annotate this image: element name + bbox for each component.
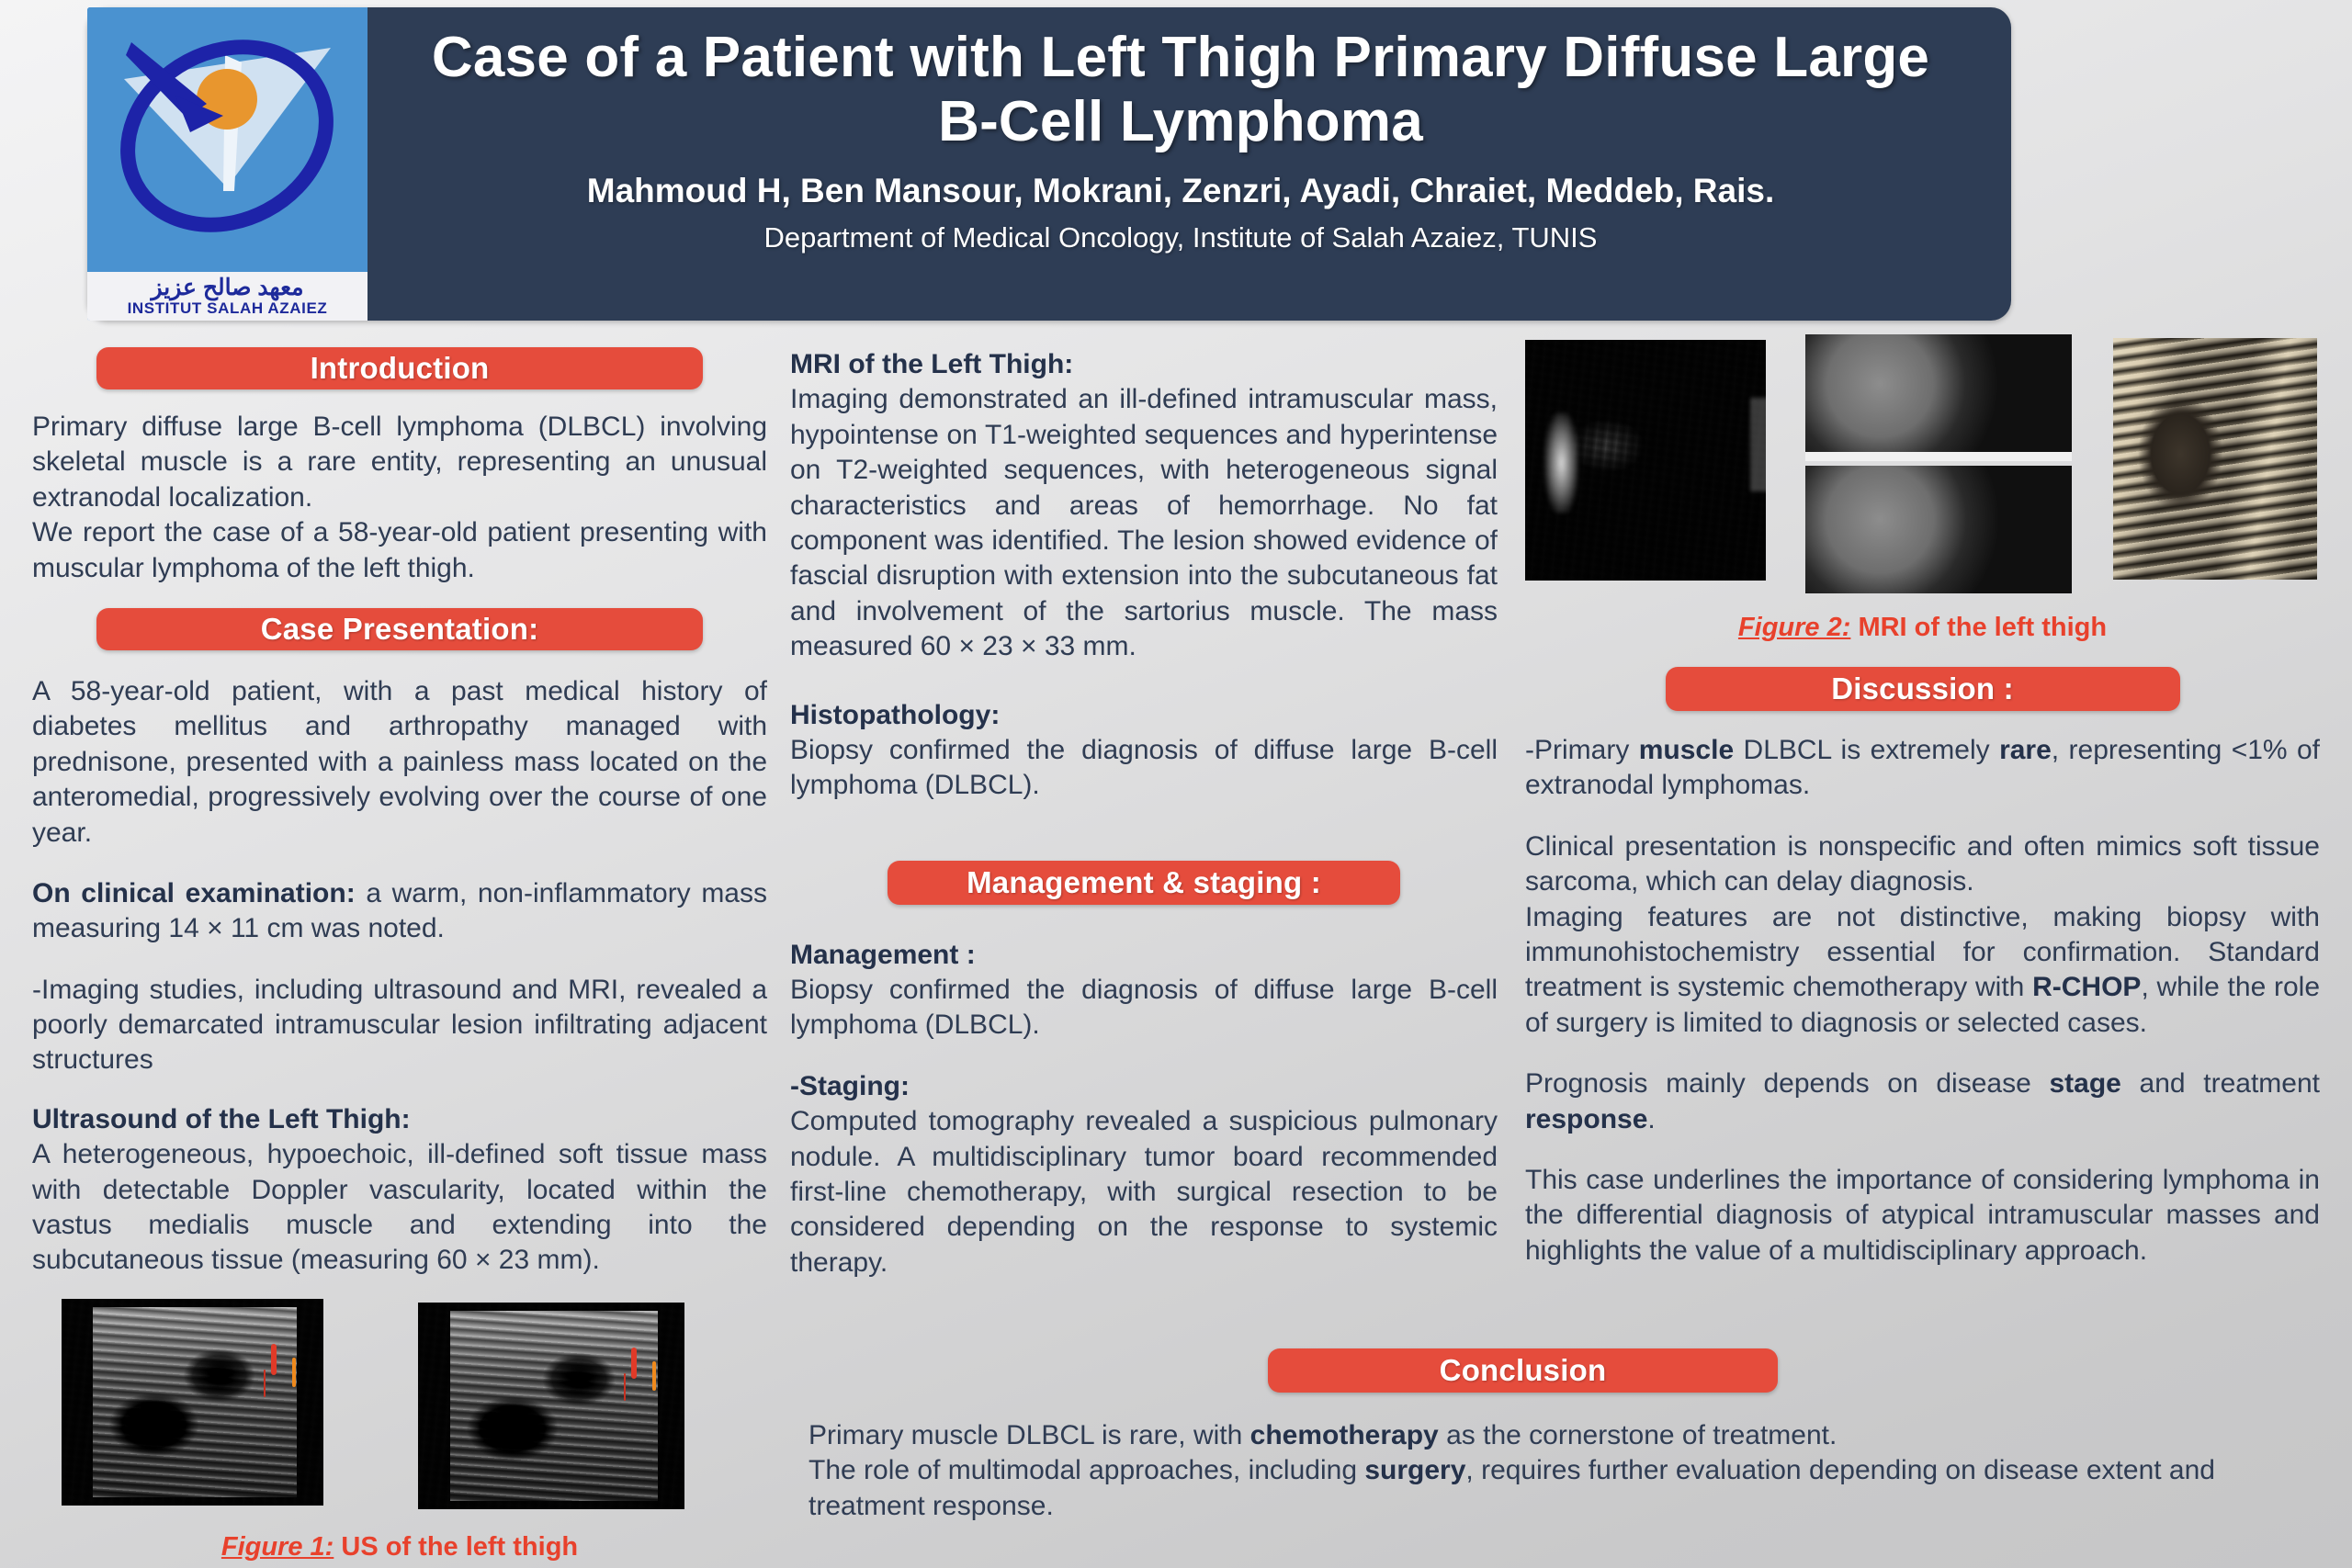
section-pill-management-staging-label: Management & staging :	[967, 865, 1321, 900]
conclusion-l1-a: Primary muscle DLBCL is rare, with	[808, 1420, 1250, 1450]
column-middle: MRI of the Left Thigh: Imaging demonstra…	[790, 347, 1498, 1280]
column-left: Introduction Primary diffuse large B-cel…	[32, 347, 767, 1562]
discussion-paragraph-5: This case underlines the importance of c…	[1525, 1163, 2320, 1269]
discussion-p4-c: and treatment	[2121, 1068, 2320, 1099]
mri-axial-pair	[1805, 334, 2072, 593]
author-list: Mahmoud H, Ben Mansour, Mokrani, Zenzri,…	[367, 171, 1994, 211]
clinical-examination-label: On clinical examination:	[32, 878, 356, 908]
discussion-p1-a: -Primary	[1525, 735, 1639, 765]
section-pill-discussion-label: Discussion :	[1831, 671, 2014, 706]
mri-axial-t1-bottom-image	[1805, 466, 2072, 593]
ultrasound-scan-2-image	[418, 1303, 684, 1509]
conclusion-l1-c: as the cornerstone of treatment.	[1439, 1420, 1837, 1450]
discussion-p4-a: Prognosis mainly depends on disease	[1525, 1068, 2049, 1099]
mri-coronal-stir-image	[1525, 340, 1766, 581]
logo-mark-icon	[87, 7, 367, 272]
discussion-p3-rchop: R-CHOP	[2032, 972, 2141, 1002]
salah-azaiez-logo-icon	[87, 7, 367, 272]
section-pill-case-presentation-label: Case Presentation:	[261, 612, 539, 647]
section-pill-discussion[interactable]: Discussion :	[1666, 667, 2180, 711]
mri-axial-t1-top-image	[1805, 334, 2072, 452]
figure2-image-row	[1525, 340, 2320, 592]
section-pill-introduction[interactable]: Introduction	[96, 347, 703, 389]
section-pill-case-presentation[interactable]: Case Presentation:	[96, 608, 703, 650]
discussion-p1-muscle: muscle	[1639, 735, 1734, 765]
discussion-paragraph-2: Clinical presentation is nonspecific and…	[1525, 829, 2320, 900]
column-right: Figure 2: MRI of the left thigh Discussi…	[1525, 340, 2320, 1269]
conclusion-section: Conclusion Primary muscle DLBCL is rare,…	[808, 1348, 2334, 1524]
figure2-caption: Figure 2: MRI of the left thigh	[1525, 613, 2320, 643]
staging-paragraph: Computed tomography revealed a suspiciou…	[790, 1104, 1498, 1280]
discussion-p4-stage: stage	[2049, 1068, 2120, 1099]
clinical-examination-paragraph: On clinical examination: a warm, non-inf…	[32, 876, 767, 947]
section-pill-conclusion-label: Conclusion	[1440, 1353, 1607, 1388]
conclusion-l2-surgery: surgery	[1364, 1455, 1465, 1485]
staging-heading: -Staging:	[790, 1069, 1498, 1104]
figure2-caption-text: MRI of the left thigh	[1850, 613, 2107, 642]
imaging-studies-paragraph: -Imaging studies, including ultrasound a…	[32, 973, 767, 1078]
introduction-paragraph-1: Primary diffuse large B-cell lymphoma (D…	[32, 410, 767, 515]
discussion-p1-rare: rare	[1999, 735, 2052, 765]
conclusion-line-2: The role of multimodal approaches, inclu…	[808, 1453, 2288, 1524]
section-pill-introduction-label: Introduction	[311, 351, 490, 386]
section-pill-management-staging[interactable]: Management & staging :	[888, 861, 1400, 905]
affiliation: Department of Medical Oncology, Institut…	[367, 220, 1994, 254]
mri-paragraph: Imaging demonstrated an ill-defined intr…	[790, 382, 1498, 664]
institution-logo: معهد صالح عزيز INSTITUT SALAH AZAIEZ	[87, 7, 367, 321]
logo-caption: معهد صالح عزيز INSTITUT SALAH AZAIEZ	[87, 272, 367, 321]
figure1-caption: Figure 1: US of the left thigh	[32, 1532, 767, 1562]
management-paragraph: Biopsy confirmed the diagnosis of diffus…	[790, 973, 1498, 1043]
histopathology-paragraph: Biopsy confirmed the diagnosis of diffus…	[790, 733, 1498, 804]
page-title: Case of a Patient with Left Thigh Primar…	[367, 26, 1994, 154]
discussion-paragraph-4: Prognosis mainly depends on disease stag…	[1525, 1066, 2320, 1137]
discussion-paragraph-3: Imaging features are not distinctive, ma…	[1525, 900, 2320, 1042]
logo-arabic-text: معهد صالح عزيز	[151, 276, 303, 299]
discussion-p4-response: response	[1525, 1104, 1647, 1134]
case-presentation-paragraph: A 58-year-old patient, with a past medic…	[32, 674, 767, 851]
ultrasound-scan-1-image	[62, 1299, 323, 1506]
section-pill-conclusion[interactable]: Conclusion	[1268, 1348, 1778, 1393]
header-text-block: Case of a Patient with Left Thigh Primar…	[367, 26, 1994, 255]
introduction-paragraph-2: We report the case of a 58-year-old pati…	[32, 515, 767, 586]
discussion-p4-e: .	[1647, 1104, 1655, 1134]
conclusion-l2-a: The role of multimodal approaches, inclu…	[808, 1455, 1364, 1485]
mri-sagittal-t1-image	[2113, 338, 2317, 580]
conclusion-line-1: Primary muscle DLBCL is rare, with chemo…	[808, 1418, 2288, 1453]
figure1-label: Figure 1:	[221, 1532, 334, 1562]
figure2-label: Figure 2:	[1738, 613, 1850, 642]
discussion-paragraph-1: -Primary muscle DLBCL is extremely rare,…	[1525, 733, 2320, 804]
management-heading: Management :	[790, 938, 1498, 973]
histopathology-heading: Histopathology:	[790, 698, 1498, 733]
ultrasound-paragraph: A heterogeneous, hypoechoic, ill-defined…	[32, 1137, 767, 1279]
discussion-p1-c: DLBCL is extremely	[1734, 735, 1999, 765]
figure1-image-row	[32, 1299, 767, 1512]
figure1-caption-text: US of the left thigh	[334, 1532, 578, 1562]
poster-canvas: معهد صالح عزيز INSTITUT SALAH AZAIEZ Cas…	[0, 0, 2352, 1568]
logo-latin-text: INSTITUT SALAH AZAIEZ	[128, 300, 328, 316]
ultrasound-heading: Ultrasound of the Left Thigh:	[32, 1102, 767, 1137]
conclusion-l1-chemotherapy: chemotherapy	[1250, 1420, 1439, 1450]
mri-heading: MRI of the Left Thigh:	[790, 347, 1498, 382]
